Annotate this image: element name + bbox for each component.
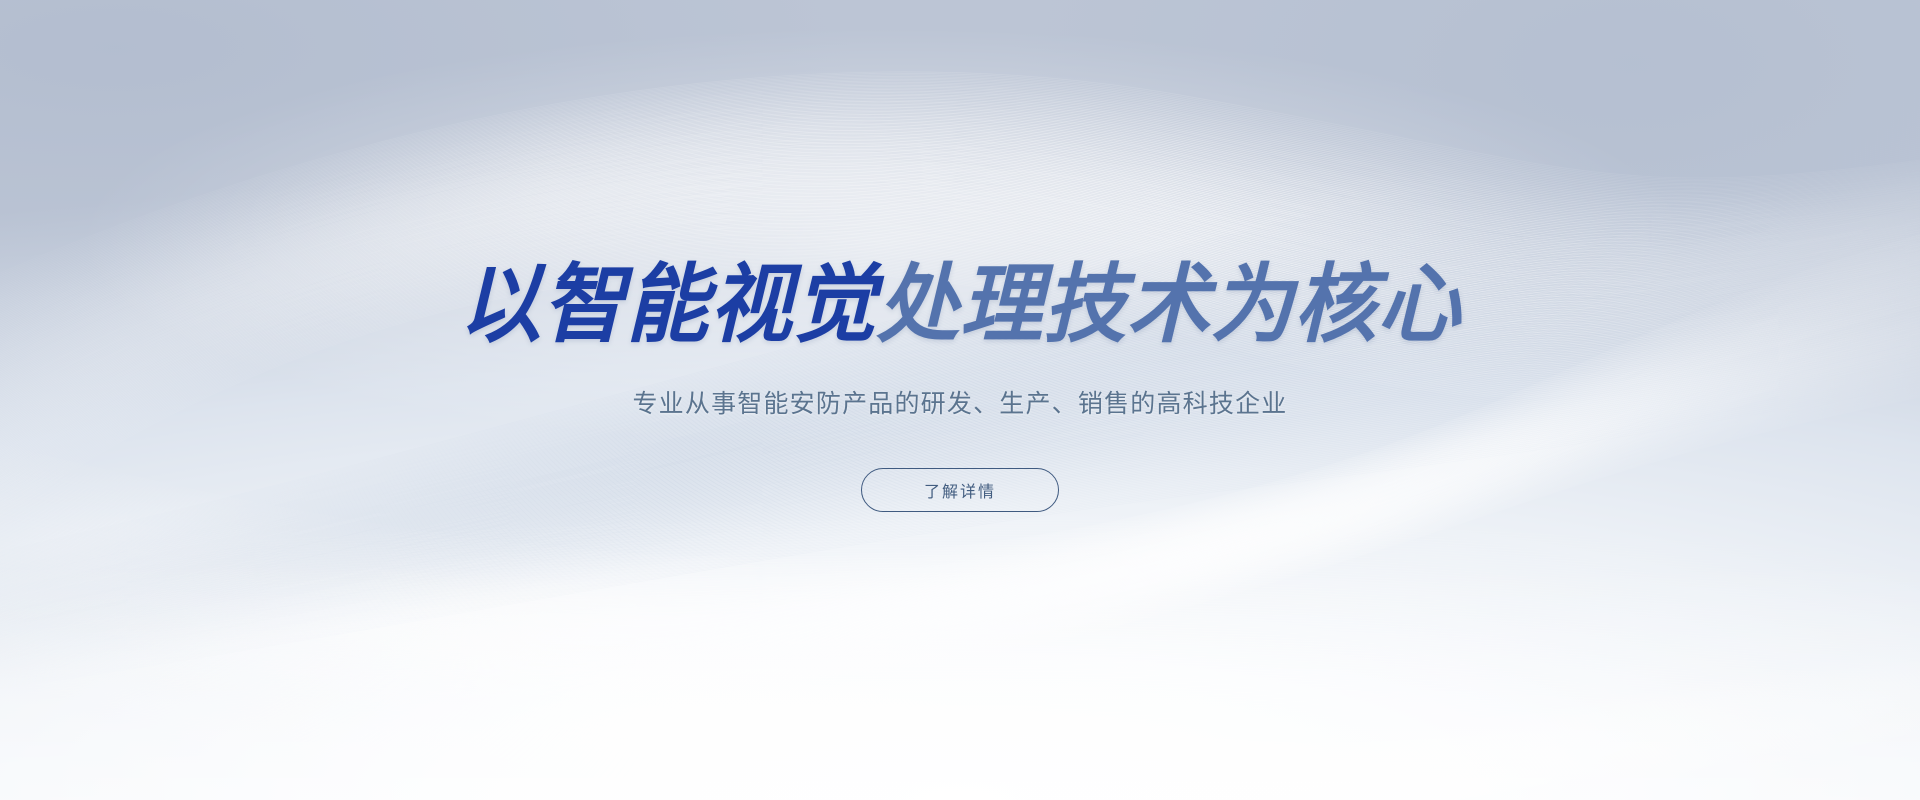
learn-more-button[interactable]: 了解详情 <box>861 468 1059 512</box>
headline-segment-primary: 以智能视觉 <box>459 257 877 353</box>
hero-subtitle: 专业从事智能安防产品的研发、生产、销售的高科技企业 <box>632 392 1287 417</box>
hero-banner: 以智能视觉处理技术为核心 专业从事智能安防产品的研发、生产、销售的高科技企业 了… <box>0 0 1920 800</box>
page-title: 以智能视觉处理技术为核心 <box>459 262 1461 348</box>
headline-segment-secondary: 处理技术为核心 <box>876 257 1461 353</box>
hero-content: 以智能视觉处理技术为核心 专业从事智能安防产品的研发、生产、销售的高科技企业 了… <box>0 0 1920 800</box>
